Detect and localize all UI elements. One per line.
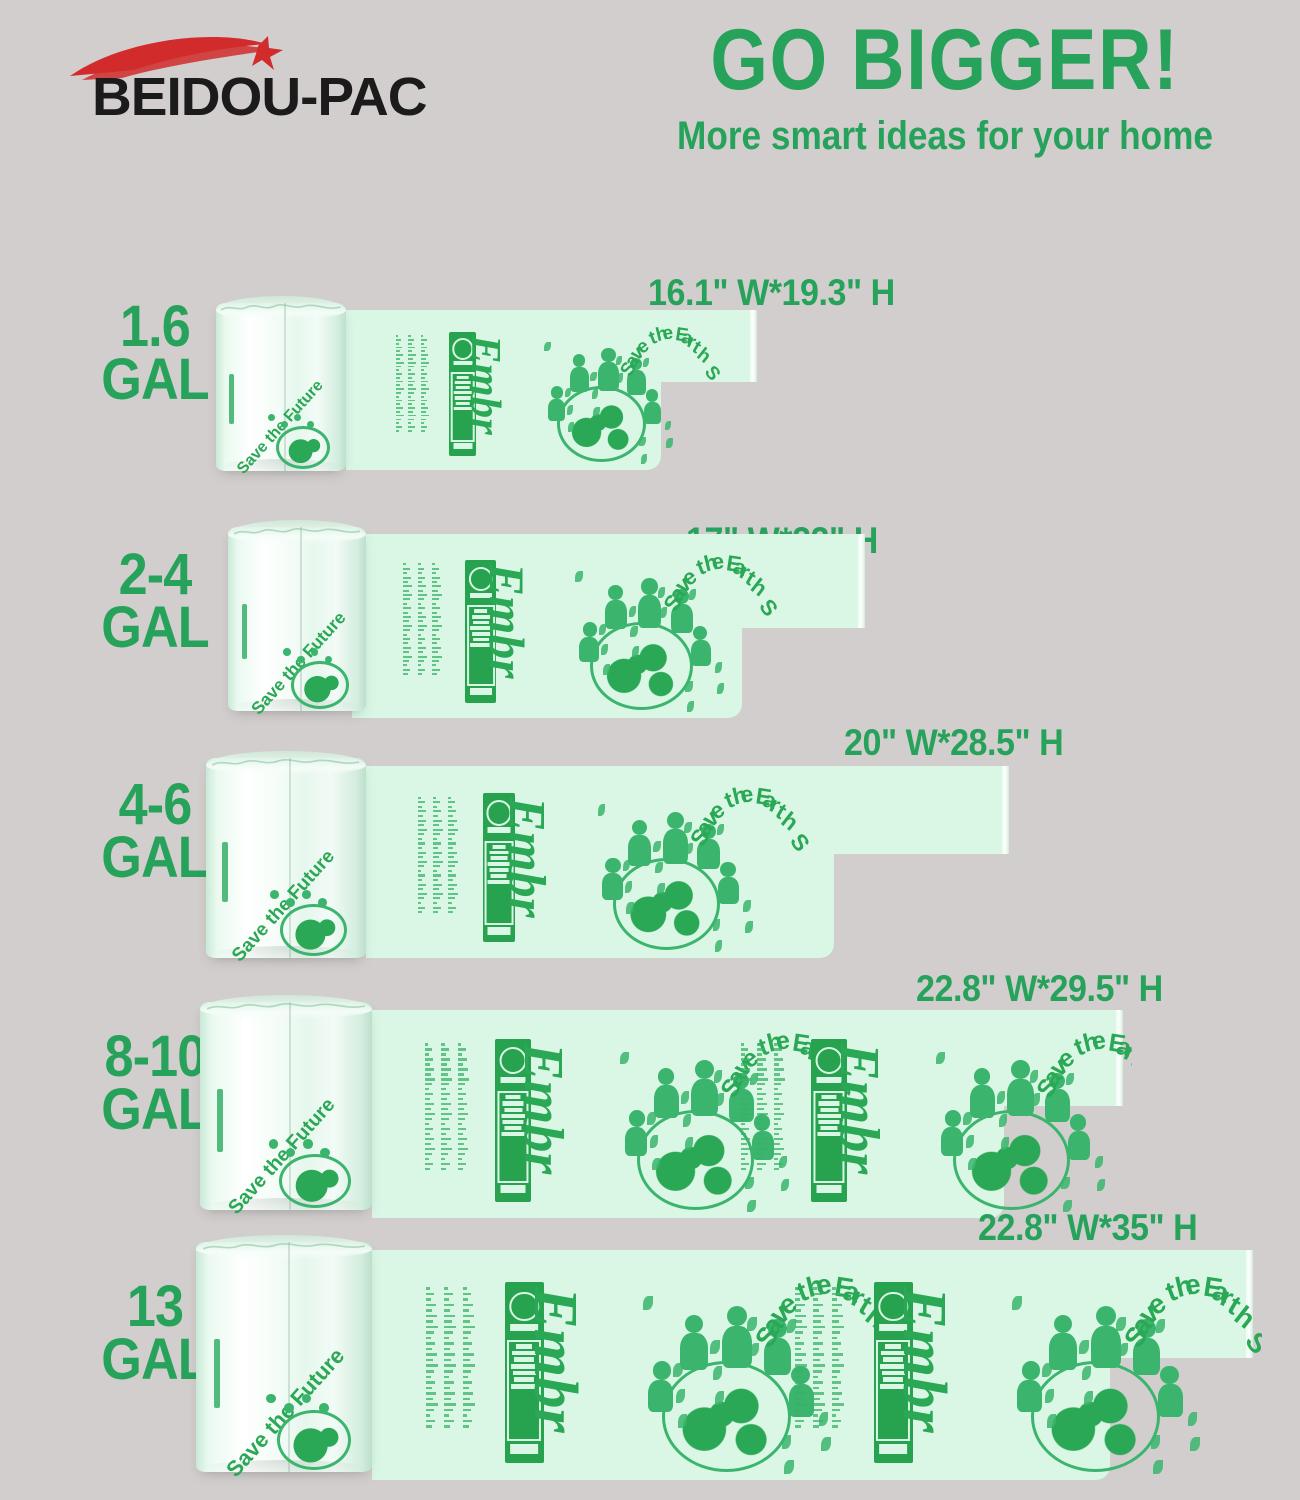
gallon-size-label: 1.6GAL	[70, 300, 241, 407]
child-figure	[1068, 1131, 1091, 1160]
leaf-accent	[665, 421, 671, 431]
bag-roll: Save the Future	[228, 527, 366, 711]
bag-roll: Save the Future	[216, 303, 346, 471]
bag-sheet-lower-section	[352, 628, 742, 718]
bag-sheet: EmbrSave the Earth S	[346, 310, 766, 474]
gallon-size-label: 2-4GAL	[70, 548, 241, 655]
bag-roll-child-figure	[283, 648, 291, 656]
header: BEIDOU-PAC GO BIGGER! More smart ideas f…	[0, 0, 1300, 210]
bag-roll-globe-sphere	[277, 1410, 351, 1470]
bag-roll-globe-sphere	[276, 426, 331, 470]
bag-dimensions-label: 16.1" W*19.3" H	[648, 272, 895, 314]
bag-roll-side-stripe	[242, 604, 247, 659]
bag-dimensions-label: 20" W*28.5" H	[844, 722, 1063, 764]
leaf-accent	[1151, 1435, 1160, 1449]
child-figure	[1070, 1114, 1087, 1131]
bag-roll-child-figure	[319, 1403, 329, 1413]
bag-roll-child-figure	[284, 1403, 294, 1413]
bag-sheet-right-edge	[1116, 1010, 1123, 1106]
leaf-accent	[666, 438, 672, 448]
bag-roll-globe-sphere	[291, 661, 349, 709]
leaf-accent	[1095, 1156, 1103, 1169]
bag-roll-globe-sphere	[280, 904, 347, 956]
bag-sheet-lower-section	[346, 382, 661, 470]
bag-dimensions-label: 22.8" W*29.5" H	[916, 968, 1163, 1010]
bag-sheet-right-edge	[750, 310, 757, 382]
headline-block: GO BIGGER! More smart ideas for your hom…	[600, 14, 1290, 160]
bag-roll-globe	[280, 904, 347, 956]
bag-roll-child-figure	[281, 421, 288, 428]
bag-roll-child-figure	[302, 890, 311, 899]
leaf-accent	[1153, 1460, 1162, 1474]
gallon-size-number: 2-4	[70, 548, 241, 601]
gallon-size-unit: GAL	[70, 601, 241, 654]
bag-roll-globe	[277, 1410, 351, 1470]
bag-roll-globe	[279, 1154, 351, 1208]
bag-sheet: EmbrSave the Earth S	[352, 534, 874, 722]
bag-roll-child-figure	[286, 898, 295, 907]
headline-title: GO BIGGER!	[648, 14, 1241, 106]
headline-subtitle: More smart ideas for your home	[641, 112, 1248, 160]
brand-logo: BEIDOU-PAC	[62, 30, 432, 120]
gallon-size-unit: GAL	[70, 353, 241, 406]
bag-roll-side-stripe	[214, 1339, 220, 1408]
bag-roll-side-stripe	[217, 1089, 223, 1151]
bag-roll-child-figure	[303, 1139, 312, 1148]
bag-roll-crinkle	[221, 301, 341, 315]
bag-roll-child-figure	[269, 1139, 278, 1148]
bag-sheet-upper-section	[352, 534, 864, 628]
bag-roll-side-stripe	[229, 374, 234, 424]
bag-sheet-right-edge	[1002, 766, 1009, 854]
bag-roll-globe	[291, 661, 349, 709]
bag-sheet: EmbrSave the Earth SEmbrSave the Earth S	[372, 1250, 1262, 1484]
bag-sheet-right-edge	[1246, 1250, 1253, 1358]
bag-sheet-lower-section	[366, 854, 834, 958]
child-figure	[1158, 1384, 1183, 1416]
leaf-accent	[1188, 1412, 1197, 1426]
bag-sheet-upper-section	[366, 766, 1008, 854]
leaf-accent	[1097, 1179, 1105, 1192]
bag-sheet-upper-section	[372, 1250, 1252, 1358]
bag-roll-crinkle	[212, 756, 359, 770]
bag-dimensions-label: 22.8" W*35" H	[978, 1207, 1197, 1249]
bag-roll-child-figure	[320, 1148, 329, 1157]
logo-wordmark: BEIDOU-PAC	[92, 66, 427, 128]
bag-roll-crinkle	[207, 1000, 365, 1014]
bag-sheet-upper-section	[372, 1010, 1122, 1106]
bag-sheet-upper-section	[346, 310, 756, 382]
bag-roll-globe-sphere	[279, 1154, 351, 1208]
bag-roll: Save the Future	[200, 1002, 372, 1210]
bag-roll-child-figure	[307, 421, 314, 428]
gallon-size-number: 1.6	[70, 300, 241, 353]
bag-roll-globe	[276, 426, 331, 470]
bag-roll-child-figure	[318, 898, 327, 907]
bag-roll-side-stripe	[222, 842, 228, 902]
bag-sheet-lower-section	[372, 1106, 1004, 1218]
bag-sheet-right-edge	[858, 534, 865, 628]
bag-roll-crinkle	[234, 525, 361, 539]
bag-roll-child-figure	[297, 656, 305, 664]
bag-roll-crinkle	[203, 1240, 365, 1254]
leaf-accent	[1061, 1177, 1069, 1190]
bag-roll: Save the Future	[196, 1242, 372, 1472]
child-figure	[1160, 1366, 1179, 1385]
bag-roll-child-figure	[270, 890, 279, 899]
bag-sheet: EmbrSave the Earth SEmbrSave the Earth S	[372, 1010, 1132, 1222]
bag-sheet: EmbrSave the Earth S	[366, 766, 1018, 962]
leaf-accent	[1190, 1437, 1199, 1451]
bag-sheet-lower-section	[372, 1358, 1110, 1480]
bag-roll: Save the Future	[206, 758, 366, 958]
